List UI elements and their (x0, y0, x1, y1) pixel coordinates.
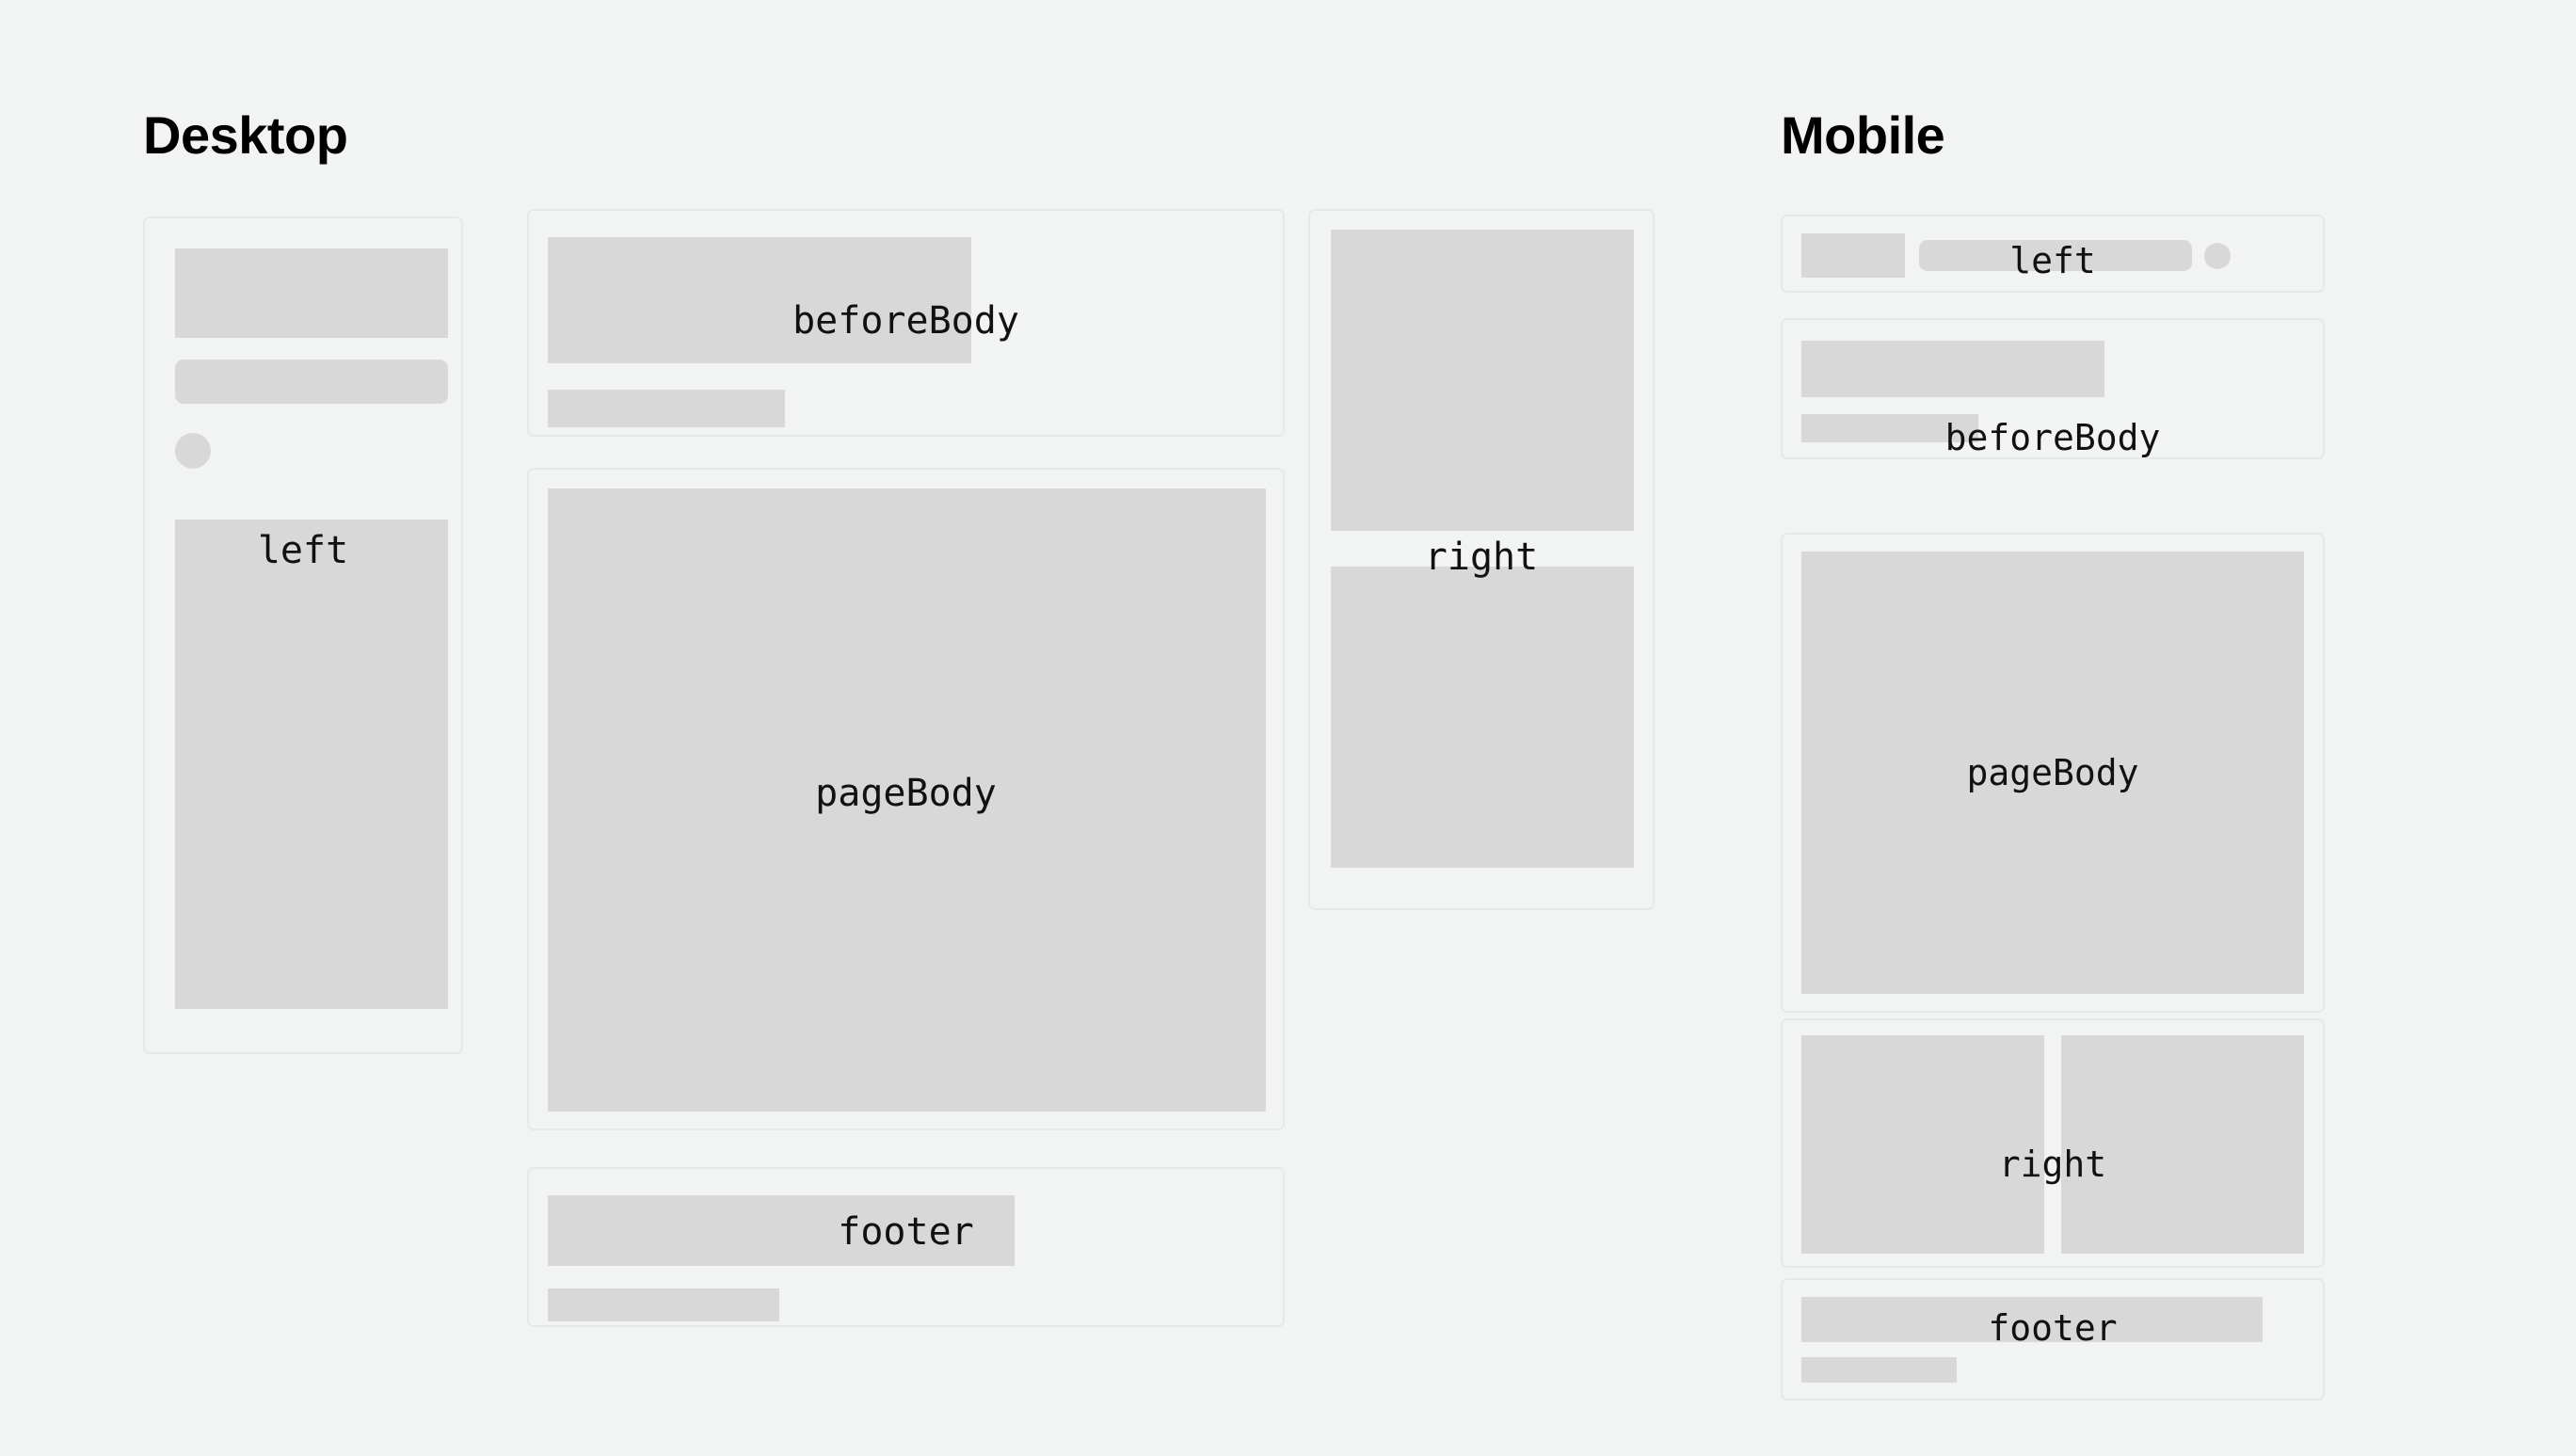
skeleton-block-fill (548, 488, 1266, 1112)
skeleton-bar-small (548, 1288, 779, 1321)
skeleton-block-fill (1801, 552, 2304, 994)
skeleton-block-wide (548, 237, 971, 363)
desktop-pagebody-region-card[interactable] (527, 468, 1285, 1130)
skeleton-block-left-column (1801, 1035, 2044, 1254)
skeleton-block-large (175, 520, 448, 1009)
desktop-left-region-card[interactable] (143, 216, 463, 1054)
skeleton-block-wide (1801, 341, 2104, 397)
skeleton-bar-rounded (1919, 240, 2192, 271)
desktop-right-region-card[interactable] (1308, 209, 1655, 910)
mobile-footer-region-card[interactable] (1781, 1278, 2325, 1400)
mobile-right-region-card[interactable] (1781, 1018, 2325, 1268)
skeleton-bar-small (1801, 1357, 1957, 1383)
skeleton-block-wide (1801, 1297, 2263, 1342)
mobile-section-title: Mobile (1781, 109, 1944, 162)
skeleton-block-square (1801, 233, 1905, 278)
skeleton-bar-rounded (175, 360, 448, 404)
skeleton-bar-small (1801, 414, 1978, 442)
skeleton-block-lower (1331, 567, 1634, 868)
skeleton-block-upper (1331, 230, 1634, 531)
desktop-beforebody-region-card[interactable] (527, 209, 1285, 437)
skeleton-block-wide (548, 1195, 1015, 1266)
layout-preview-page: { "page": { "background_color": "#f2f3f3… (0, 0, 2576, 1456)
skeleton-dot-circle (175, 433, 211, 469)
skeleton-bar-small (548, 390, 785, 427)
mobile-beforebody-region-card[interactable] (1781, 318, 2325, 459)
skeleton-block-tall (175, 248, 448, 338)
desktop-footer-region-card[interactable] (527, 1167, 1285, 1327)
skeleton-dot-circle (2204, 243, 2231, 269)
mobile-pagebody-region-card[interactable] (1781, 533, 2325, 1013)
desktop-section-title: Desktop (143, 109, 347, 162)
mobile-left-region-card[interactable] (1781, 215, 2325, 293)
skeleton-block-right-column (2061, 1035, 2304, 1254)
